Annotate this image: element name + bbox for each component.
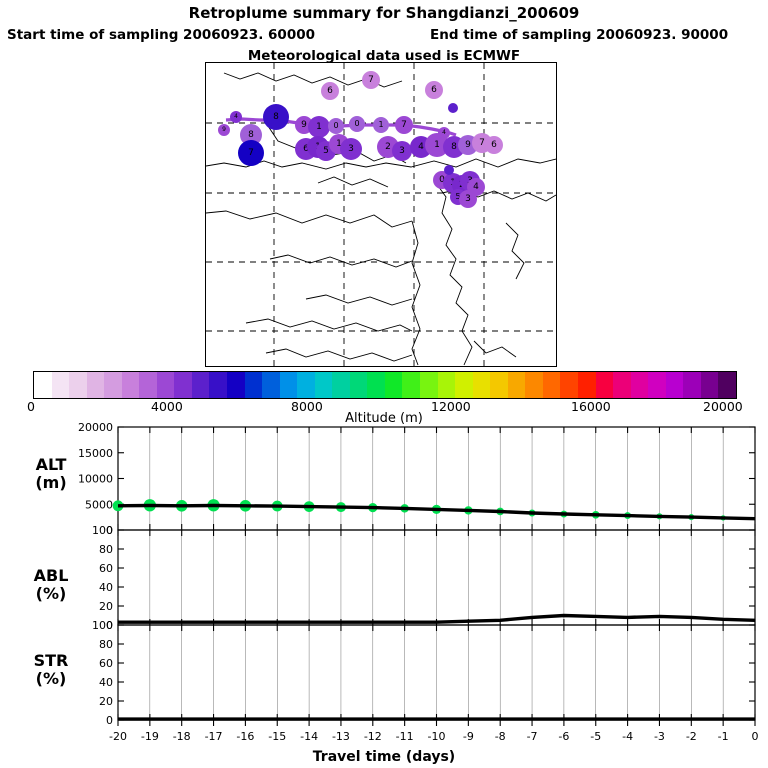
x-tick-label: -4	[622, 730, 633, 743]
colorbar-swatch	[402, 372, 420, 398]
x-tick-label: -13	[332, 730, 350, 743]
timeseries-panels: 0500010000150002000002040608010002040608…	[0, 420, 768, 768]
x-tick-label: -19	[141, 730, 159, 743]
x-tick-label: -11	[396, 730, 414, 743]
y-tick-label: 60	[99, 657, 113, 670]
colorbar-swatch	[490, 372, 508, 398]
colorbar-swatch	[631, 372, 649, 398]
colorbar-swatch	[332, 372, 350, 398]
y-tick-label: 80	[99, 543, 113, 556]
x-tick-label: -10	[428, 730, 446, 743]
y-tick-label: 40	[99, 581, 113, 594]
colorbar-swatch	[280, 372, 298, 398]
x-tick-label: -5	[590, 730, 601, 743]
colorbar-swatch	[473, 372, 491, 398]
y-tick-label: 5000	[85, 498, 113, 511]
map-altitude-marker: 3	[459, 190, 477, 208]
colorbar-swatch	[350, 372, 368, 398]
y-tick-label: 80	[99, 638, 113, 651]
colorbar-swatch	[683, 372, 701, 398]
colorbar-swatch	[578, 372, 596, 398]
colorbar-swatch	[209, 372, 227, 398]
x-tick-label: -8	[495, 730, 506, 743]
y-tick-label: 20	[99, 600, 113, 613]
colorbar-swatch	[69, 372, 87, 398]
y-tick-label: 10000	[78, 473, 113, 486]
page-title: Retroplume summary for Shangdianzi_20060…	[0, 4, 768, 22]
y-tick-label: 15000	[78, 447, 113, 460]
y-tick-label: 0	[106, 714, 113, 727]
x-tick-label: -3	[654, 730, 665, 743]
colorbar-swatch	[139, 372, 157, 398]
map-altitude-marker: 1	[373, 117, 389, 133]
x-tick-label: -16	[236, 730, 254, 743]
x-tick-label: -20	[109, 730, 127, 743]
colorbar-swatch	[104, 372, 122, 398]
colorbar-swatch	[420, 372, 438, 398]
colorbar-swatch	[718, 372, 736, 398]
colorbar-swatch	[52, 372, 70, 398]
colorbar-swatch	[508, 372, 526, 398]
colorbar-swatch	[367, 372, 385, 398]
map-altitude-marker: 7	[362, 71, 380, 89]
x-tick-label: -1	[718, 730, 729, 743]
colorbar-swatch	[455, 372, 473, 398]
map-altitude-marker: 0	[349, 116, 365, 132]
map-altitude-marker: 4	[230, 111, 242, 123]
colorbar-swatch	[87, 372, 105, 398]
map-marker-layer: 67649889100177615132341897640123453	[206, 63, 556, 366]
y-tick-label: 40	[99, 676, 113, 689]
colorbar-swatch	[385, 372, 403, 398]
colorbar-swatch	[525, 372, 543, 398]
x-tick-label: 0	[752, 730, 759, 743]
colorbar-swatch	[192, 372, 210, 398]
map-altitude-marker: 0	[328, 118, 344, 134]
map-altitude-marker: 6	[425, 81, 443, 99]
x-tick-label: -6	[558, 730, 569, 743]
y-tick-label: 100	[92, 619, 113, 632]
map-panel: 67649889100177615132341897640123453	[205, 62, 557, 367]
altitude-colorbar	[33, 371, 737, 399]
colorbar-swatch	[596, 372, 614, 398]
y-tick-label: 20	[99, 695, 113, 708]
map-altitude-marker: 9	[218, 124, 230, 136]
x-tick-label: -14	[300, 730, 318, 743]
map-altitude-marker: 7	[238, 140, 264, 166]
colorbar-swatch	[122, 372, 140, 398]
colorbar-swatch	[157, 372, 175, 398]
x-tick-label: -17	[205, 730, 223, 743]
y-tick-label: 20000	[78, 421, 113, 434]
map-altitude-marker: 3	[392, 141, 412, 161]
colorbar-swatch	[262, 372, 280, 398]
end-time-label: End time of sampling 20060923. 90000	[430, 27, 728, 43]
x-tick-label: -18	[173, 730, 191, 743]
colorbar-swatch	[438, 372, 456, 398]
colorbar-swatch	[174, 372, 192, 398]
map-altitude-marker: 7	[395, 116, 413, 134]
x-tick-label: -2	[686, 730, 697, 743]
colorbar-swatch	[613, 372, 631, 398]
y-tick-label: 100	[92, 524, 113, 537]
colorbar-swatch	[648, 372, 666, 398]
map-altitude-marker: 6	[321, 82, 339, 100]
colorbar-swatch	[666, 372, 684, 398]
x-tick-label: -15	[268, 730, 286, 743]
colorbar-swatch	[245, 372, 263, 398]
map-altitude-marker	[448, 103, 458, 113]
colorbar-swatch	[560, 372, 578, 398]
colorbar-swatch	[297, 372, 315, 398]
map-altitude-marker	[444, 165, 454, 175]
map-altitude-marker: 3	[340, 138, 362, 160]
colorbar-swatch	[701, 372, 719, 398]
x-tick-label: -7	[527, 730, 538, 743]
x-tick-label: -12	[364, 730, 382, 743]
start-time-label: Start time of sampling 20060923. 60000	[7, 27, 315, 43]
map-altitude-marker: 1	[308, 116, 330, 138]
map-altitude-marker: 4	[438, 127, 450, 139]
x-axis-label: Travel time (days)	[0, 749, 768, 765]
y-tick-label: 60	[99, 562, 113, 575]
x-tick-label: -9	[463, 730, 474, 743]
map-altitude-marker: 6	[485, 136, 503, 154]
colorbar-swatch	[34, 372, 52, 398]
map-altitude-marker: 8	[263, 104, 289, 130]
retroplume-summary-figure: Retroplume summary for Shangdianzi_20060…	[0, 0, 768, 768]
colorbar-swatch	[227, 372, 245, 398]
colorbar-swatch	[315, 372, 333, 398]
colorbar-swatch	[543, 372, 561, 398]
